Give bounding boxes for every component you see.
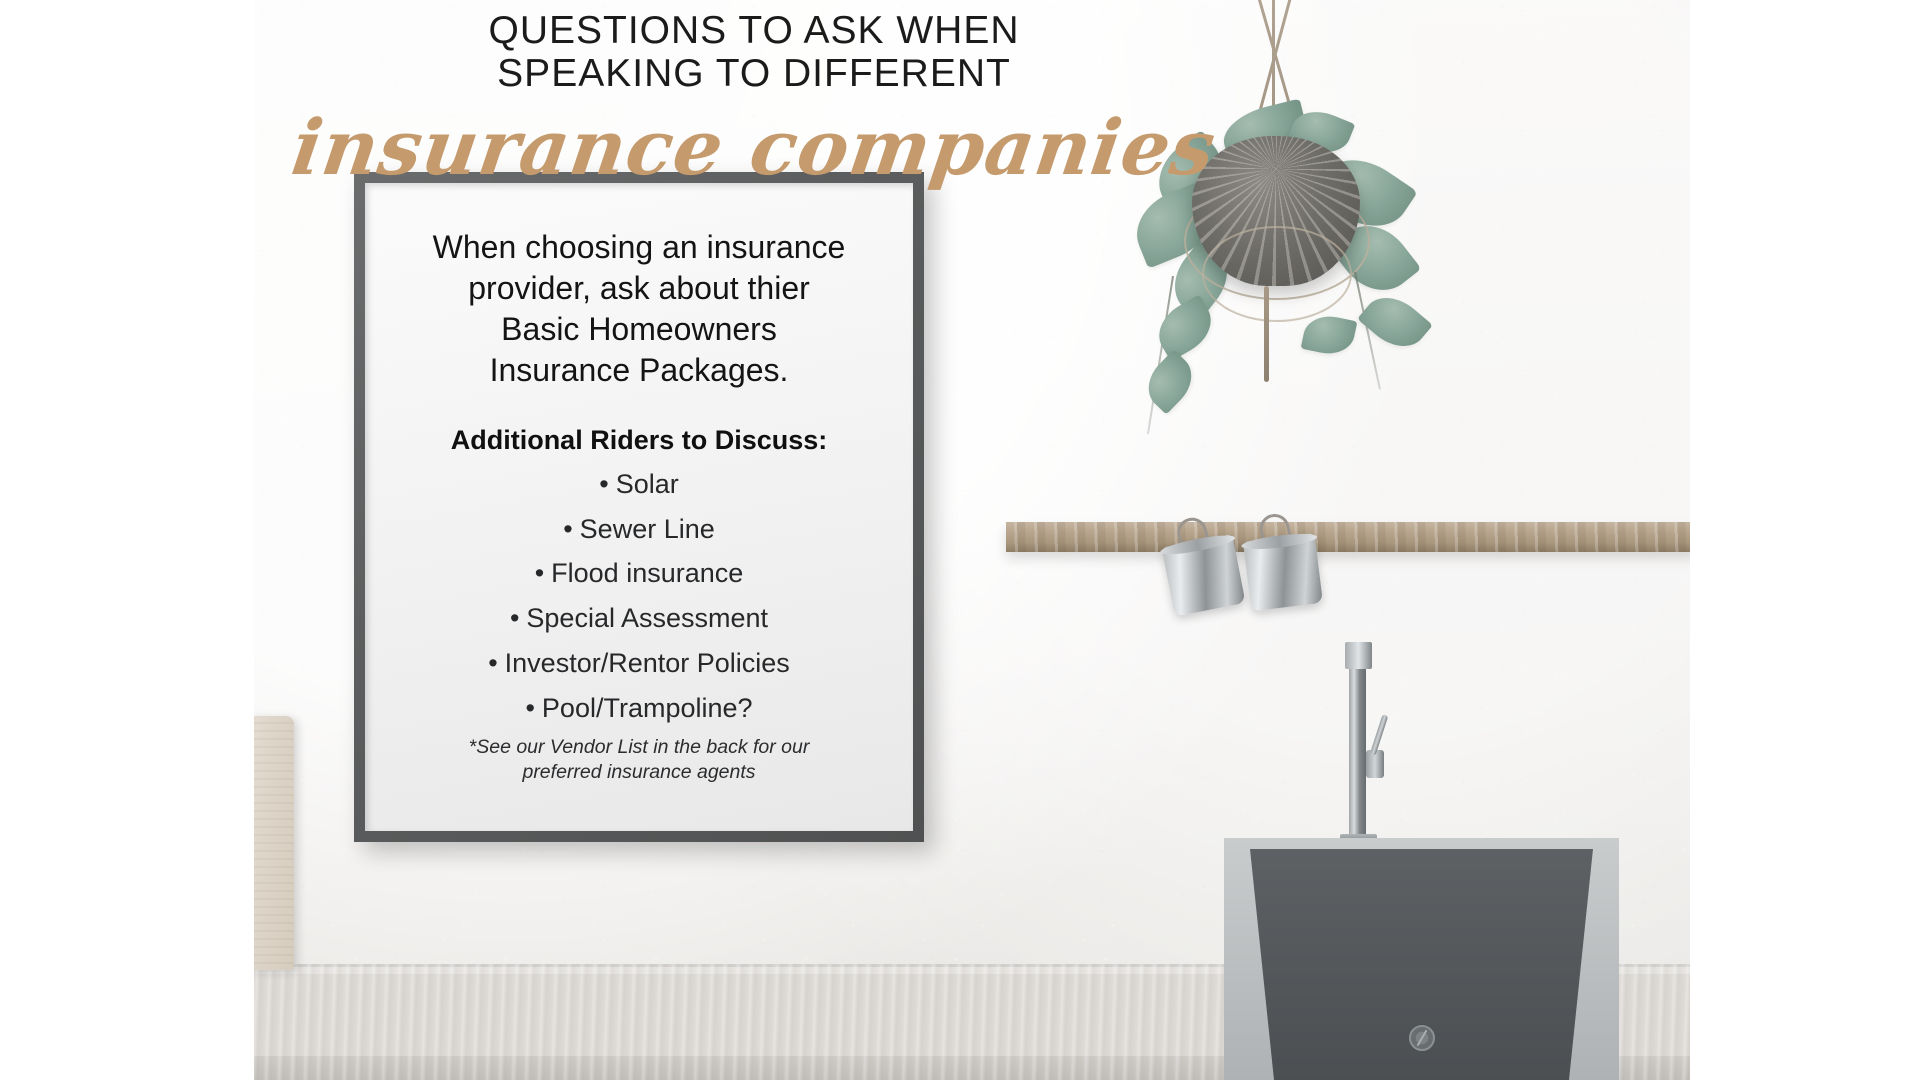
list-item: •Flood insurance: [389, 551, 889, 596]
bullet-icon: •: [535, 558, 544, 588]
list-item: •Special Assessment: [389, 596, 889, 641]
list-item-label: Special Assessment: [526, 603, 768, 633]
page-title: QUESTIONS TO ASK WHEN SPEAKING TO DIFFER…: [254, 10, 1254, 96]
poster-riders-list: •Solar •Sewer Line •Flood insurance •Spe…: [389, 462, 889, 731]
poster-panel: When choosing an insurance provider, ask…: [365, 183, 913, 831]
plant-leaf: [1301, 311, 1358, 359]
macrame-tail: [1264, 286, 1269, 382]
sink-drain-icon: [1409, 1025, 1435, 1051]
list-item-label: Sewer Line: [580, 514, 715, 544]
sink-basin: [1250, 849, 1593, 1080]
list-item-label: Pool/Trampoline?: [542, 693, 753, 723]
faucet-head: [1345, 642, 1372, 669]
bullet-icon: •: [563, 514, 572, 544]
list-item-label: Solar: [616, 469, 679, 499]
list-item: •Pool/Trampoline?: [389, 686, 889, 731]
sink: [1224, 838, 1619, 1080]
bullet-icon: •: [488, 648, 497, 678]
list-item: •Sewer Line: [389, 507, 889, 552]
poster-footnote: *See our Vendor List in the back for our…: [389, 735, 889, 785]
wooden-shelf-rail: [1006, 522, 1690, 552]
macrame-net-lower: [1202, 226, 1352, 322]
poster-intro-text: When choosing an insurance provider, ask…: [389, 227, 889, 391]
script-subtitle: insurance companies: [249, 110, 1260, 186]
list-item-label: Flood insurance: [551, 558, 743, 588]
cutting-board: [254, 716, 294, 970]
list-item-label: Investor/Rentor Policies: [505, 648, 790, 678]
bullet-icon: •: [525, 693, 534, 723]
list-item: •Solar: [389, 462, 889, 507]
poster-riders-heading: Additional Riders to Discuss:: [389, 425, 889, 456]
picture-frame: When choosing an insurance provider, ask…: [354, 172, 924, 842]
list-item: •Investor/Rentor Policies: [389, 641, 889, 686]
headline-block: QUESTIONS TO ASK WHEN SPEAKING TO DIFFER…: [254, 10, 1254, 186]
bullet-icon: •: [510, 603, 519, 633]
bullet-icon: •: [599, 469, 608, 499]
faucet-spout: [1349, 650, 1366, 840]
plant-leaf: [1357, 285, 1433, 359]
plant-leaf: [1138, 349, 1203, 414]
poster-page: When choosing an insurance provider, ask…: [0, 0, 1920, 1080]
